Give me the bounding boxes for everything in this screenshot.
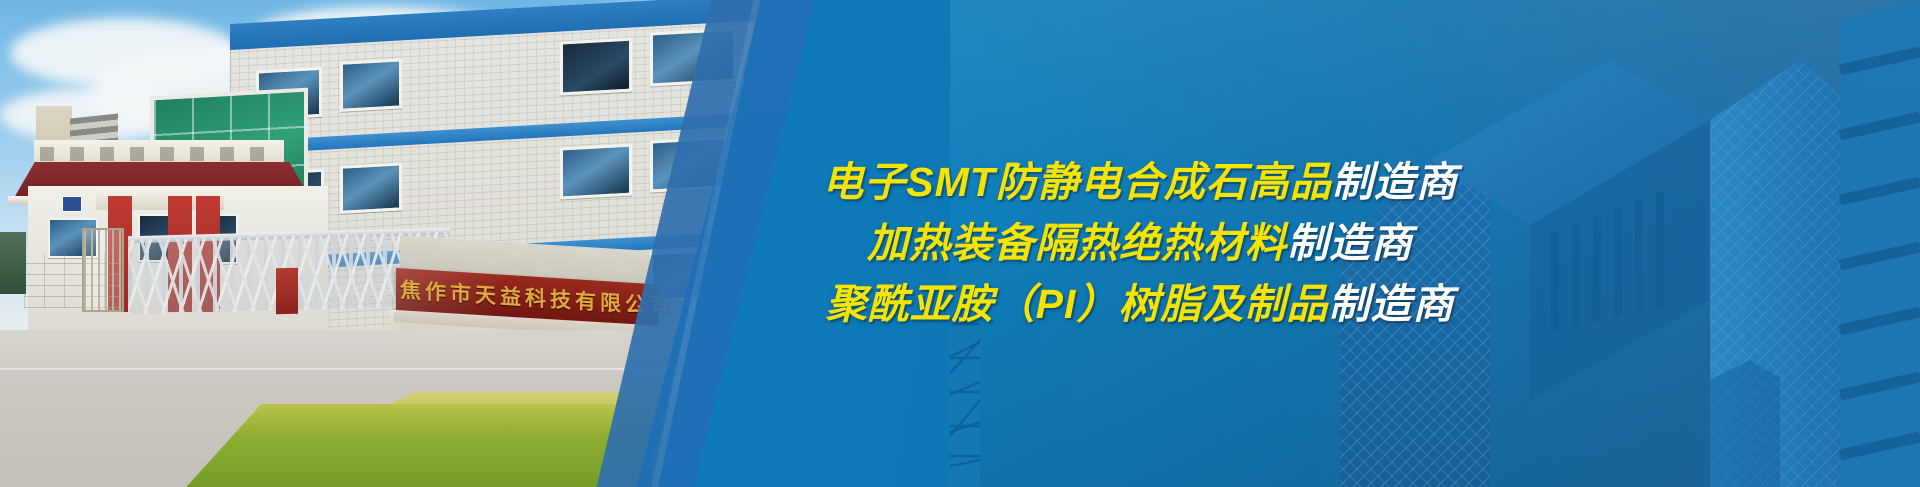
green-fence (0, 232, 26, 294)
hero-banner: 焦作市天益科技有限公司 电子SMT防静电合成石高品制造商 加热装备隔热绝热材料制… (0, 0, 1920, 487)
window (340, 162, 402, 213)
gate-post (276, 268, 298, 315)
headline-line-1: 电子SMT防静电合成石高品制造商 (822, 162, 1458, 203)
window (560, 144, 632, 200)
headline-1-highlight: 电子SMT防静电合成石高品 (822, 159, 1332, 205)
headline-1-suffix: 制造商 (1332, 159, 1458, 205)
headline-3-highlight: 聚酰亚胺（PI）树脂及制品 (826, 281, 1329, 327)
headline-line-3: 聚酰亚胺（PI）树脂及制品制造商 (826, 284, 1455, 325)
headline-block: 电子SMT防静电合成石高品制造商 加热装备隔热绝热材料制造商 聚酰亚胺（PI）树… (640, 0, 1640, 487)
window (340, 58, 402, 111)
headline-line-2: 加热装备隔热绝热材料制造商 (867, 223, 1413, 264)
side-gate (82, 228, 124, 312)
window (560, 38, 632, 96)
headline-2-suffix: 制造商 (1287, 220, 1413, 266)
headline-2-highlight: 加热装备隔热绝热材料 (867, 220, 1287, 266)
wall-plaque (62, 196, 82, 212)
headline-3-suffix: 制造商 (1328, 281, 1454, 327)
